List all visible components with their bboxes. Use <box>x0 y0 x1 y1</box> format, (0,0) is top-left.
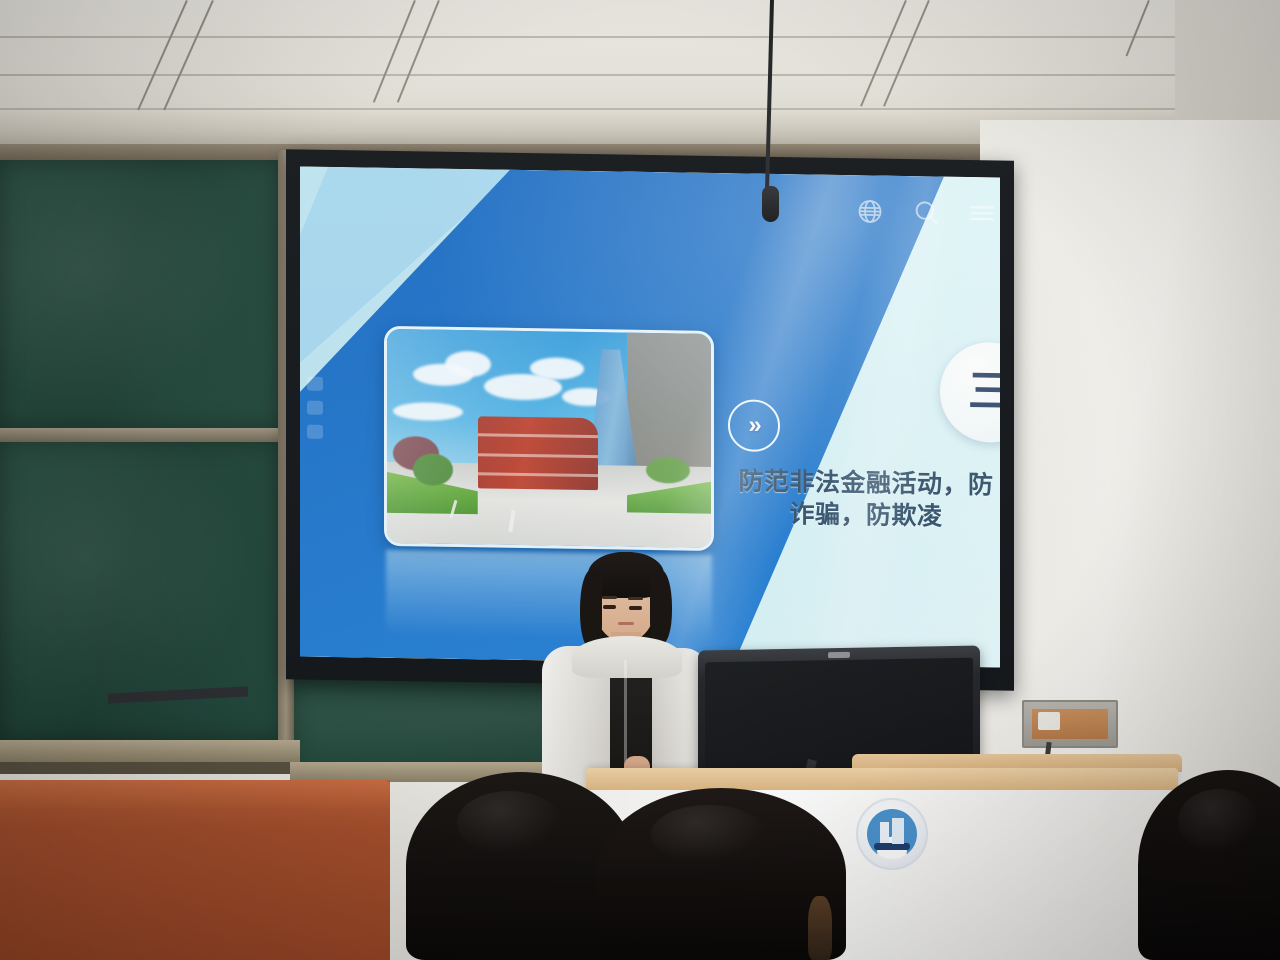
slide-title-line-2: 诈骗，防欺凌 <box>732 497 1000 533</box>
classroom-desk <box>0 780 390 960</box>
student-head-center <box>596 788 846 960</box>
wall-outlet-panel[interactable] <box>1022 700 1118 748</box>
menu-icon[interactable] <box>968 199 996 227</box>
classroom-photo: » 三 防范非法金融活动，防 诈骗，防欺凌 <box>0 0 1280 960</box>
chevron-right-icon[interactable]: » <box>728 399 780 452</box>
section-badge: 三 <box>940 342 1000 454</box>
campus-photo <box>384 326 714 551</box>
slide-icon-bar[interactable] <box>856 197 996 227</box>
globe-icon[interactable] <box>856 197 884 225</box>
monitor-brand-logo <box>828 652 850 658</box>
slide-title-line-1: 防范非法金融活动，防 <box>732 465 1000 501</box>
desktop-icons <box>302 367 328 449</box>
chalkboard-left-upper <box>0 160 282 428</box>
hanging-microphone <box>762 186 779 222</box>
power-plug-icon <box>1038 712 1060 730</box>
section-number: 三 <box>940 342 1000 444</box>
university-emblem <box>856 798 928 870</box>
chalkboard-divider-horizontal <box>0 428 286 442</box>
chalk-tray-left <box>0 740 300 762</box>
slide-title: 防范非法金融活动，防 诈骗，防欺凌 <box>732 465 1000 533</box>
search-icon[interactable] <box>912 198 940 226</box>
